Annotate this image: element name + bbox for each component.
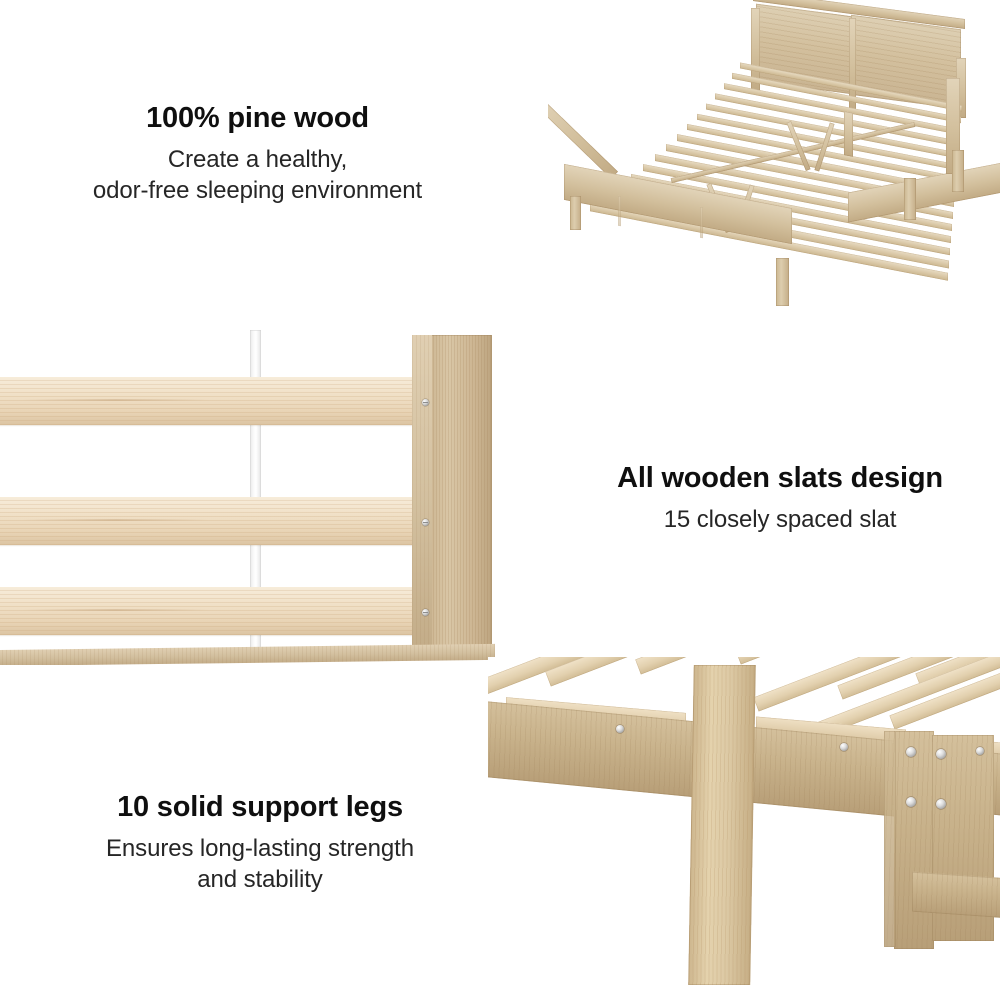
rail-bolt-far-right: [976, 747, 984, 755]
feature-block-pine-wood: 100% pine wood Create a healthy, odor-fr…: [30, 101, 485, 207]
feature-block-slats: All wooden slats design 15 closely space…: [600, 461, 960, 536]
pine-support-leg: [688, 665, 756, 985]
corner-bolt-bottom-right: [936, 799, 946, 809]
feature-subtitle-line: 15 closely spaced slat: [600, 505, 960, 536]
feature-title-pine-wood: 100% pine wood: [30, 101, 485, 136]
leg-rear-far: [952, 150, 964, 192]
support-legs-photo: [488, 657, 1000, 1000]
wood-knot-small: [706, 777, 715, 790]
feature-title-slats: All wooden slats design: [600, 461, 960, 496]
corner-bolt-bottom-left: [906, 797, 916, 807]
slat-screw-bottom: [422, 609, 429, 616]
corner-bolt-top-left: [906, 747, 916, 757]
feature-block-legs: 10 solid support legs Ensures long-lasti…: [20, 790, 500, 896]
infographic-canvas: 100% pine wood Create a healthy, odor-fr…: [0, 0, 1000, 1000]
rail-bolt-right: [840, 743, 848, 751]
slat-closeup-photo: [0, 325, 505, 665]
footboard-joint-left: [618, 196, 621, 227]
feature-subtitle-line: Create a healthy,: [30, 145, 485, 176]
pine-slat-middle: [0, 497, 432, 545]
corner-leg-post: [894, 731, 934, 949]
foot-end-rail: [912, 872, 1000, 919]
center-support-foot: [844, 111, 853, 157]
feature-subtitle-slats: 15 closely spaced slat: [600, 505, 960, 536]
pine-slat-top: [0, 377, 432, 425]
feature-title-legs: 10 solid support legs: [20, 790, 500, 825]
pine-slat-bottom: [0, 587, 432, 635]
slat-screw-top: [422, 399, 429, 406]
rail-bolt-mid: [616, 725, 624, 733]
feature-subtitle-line: Ensures long-lasting strength: [20, 834, 500, 865]
feature-subtitle-line: and stability: [20, 865, 500, 896]
feature-subtitle-legs: Ensures long-lasting strength and stabil…: [20, 834, 500, 895]
leg-rear-right: [904, 178, 916, 220]
leg-front-right: [776, 258, 789, 306]
leg-front-left: [570, 196, 581, 230]
feature-subtitle-line: odor-free sleeping environment: [30, 176, 485, 207]
wood-knot: [728, 855, 744, 877]
corner-bolt-top-right: [936, 749, 946, 759]
feature-subtitle-pine-wood: Create a healthy, odor-free sleeping env…: [30, 145, 485, 206]
oak-side-rail-vertical: [430, 335, 492, 657]
left-side-rail: [548, 95, 618, 179]
full-bed-frame-photo: [548, 0, 1000, 330]
oak-rail-inner-edge: [412, 335, 432, 653]
oak-rail-bottom-ledge: [0, 644, 495, 665]
corner-leg-inner-strip: [884, 731, 896, 947]
slat-screw-middle: [422, 519, 429, 526]
footboard-joint-right: [700, 207, 703, 239]
bed-frame-illustration: [548, 0, 1000, 330]
